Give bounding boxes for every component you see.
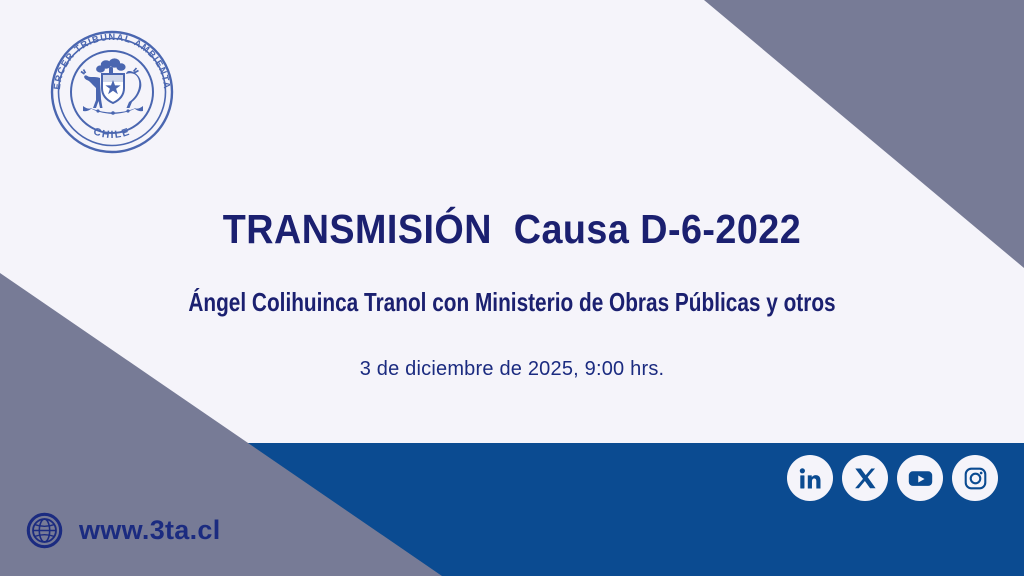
youtube-icon [907,465,934,492]
svg-text:CHILE: CHILE [92,126,132,142]
slide-text-block: TRANSMISIÓN Causa D-6-2022 Ángel Colihui… [0,206,1024,381]
x-twitter-button[interactable] [842,455,888,501]
chilean-coat-of-arms [81,58,143,114]
social-links [787,455,998,501]
globe-icon [26,512,63,549]
case-parties-subtitle: Ángel Colihuinca Tranol con Ministerio d… [102,287,921,318]
broadcast-slide: TERCER TRIBUNAL AMBIENTAL CHILE [0,0,1024,576]
seal-ring-text-bottom: CHILE [92,126,132,142]
instagram-button[interactable] [952,455,998,501]
page-title: TRANSMISIÓN Causa D-6-2022 [41,206,983,253]
linkedin-icon [798,466,823,491]
linkedin-button[interactable] [787,455,833,501]
website-footer[interactable]: www.3ta.cl [26,512,221,549]
youtube-button[interactable] [897,455,943,501]
tribunal-seal-logo: TERCER TRIBUNAL AMBIENTAL CHILE [36,16,188,168]
hearing-datetime: 3 de diciembre de 2025, 9:00 hrs. [0,358,1024,381]
website-url[interactable]: www.3ta.cl [79,515,221,546]
x-twitter-icon [853,466,878,491]
instagram-icon [963,466,988,491]
